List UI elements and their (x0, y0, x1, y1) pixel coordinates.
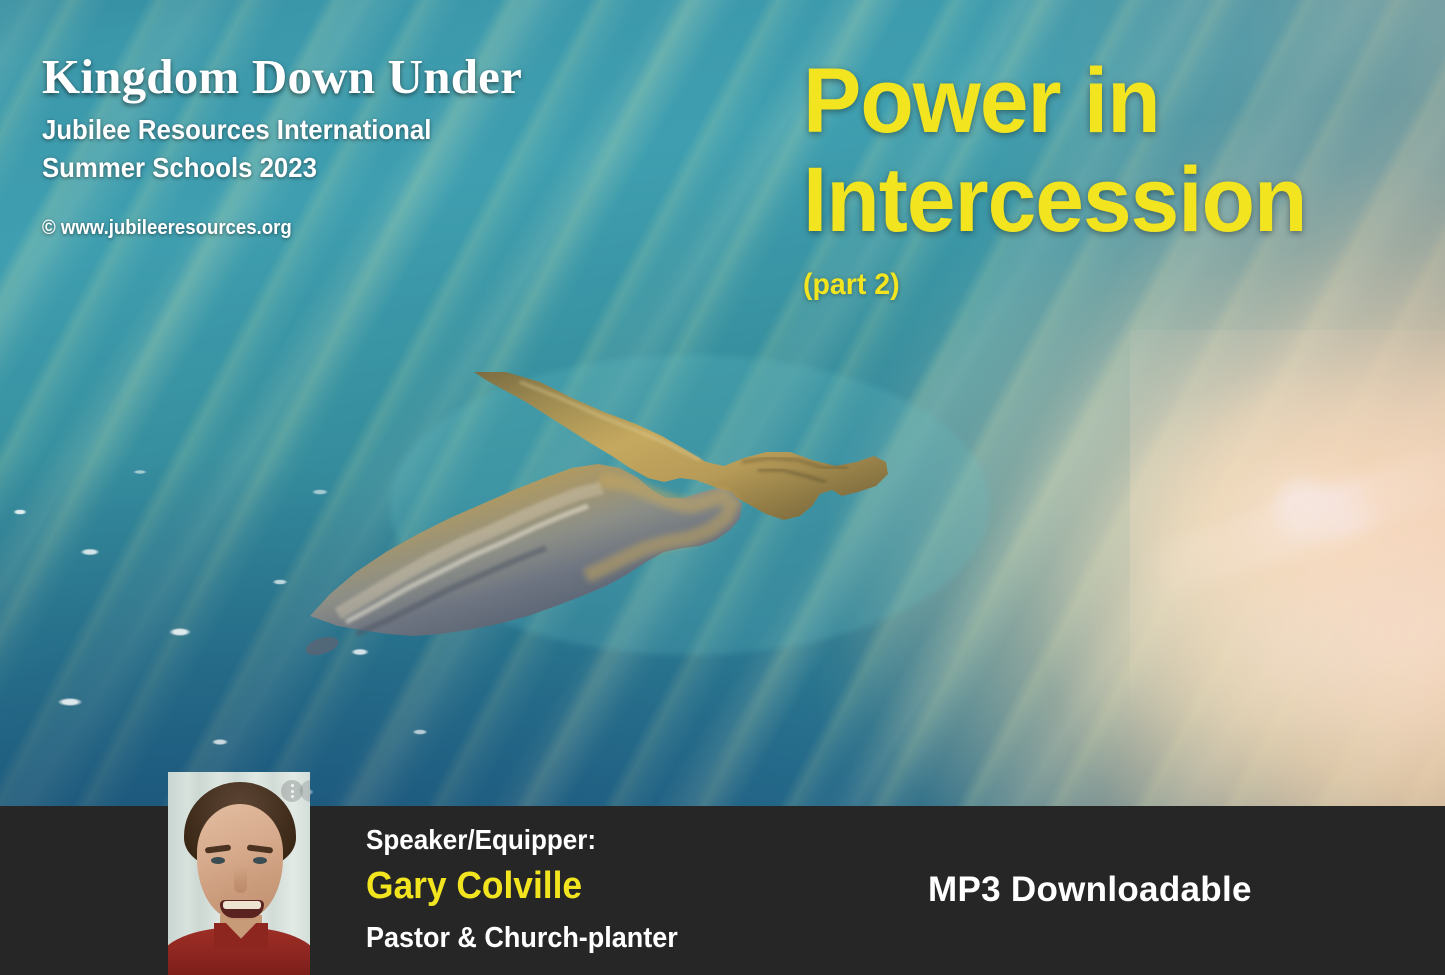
talk-title-block: Power in Intercession (part 2) (803, 52, 1403, 302)
photo-nose (234, 867, 247, 893)
speaker-info-block: Speaker/Equipper: Gary Colville Pastor &… (366, 824, 701, 955)
dot (291, 790, 294, 793)
photo-eye-right (253, 857, 267, 864)
promo-poster: Kingdom Down Under Jubilee Resources Int… (0, 0, 1445, 975)
talk-title-line-2: Intercession (803, 151, 1373, 250)
dot (291, 784, 294, 787)
brand-organisation: Jubilee Resources International (42, 111, 631, 149)
brand-title: Kingdom Down Under (42, 52, 682, 102)
dot (291, 795, 294, 798)
photo-mouth (220, 900, 264, 918)
photo-teeth (223, 901, 261, 909)
brand-block: Kingdom Down Under Jubilee Resources Int… (42, 52, 682, 240)
talk-title-line-1: Power in (803, 52, 1373, 151)
brand-event: Summer Schools 2023 (42, 149, 631, 187)
talk-part-label: (part 2) (803, 268, 1373, 302)
brand-website[interactable]: © www.jubileeresources.org (42, 217, 637, 240)
speaker-photo (168, 772, 310, 975)
speaker-role-label: Speaker/Equipper: (366, 824, 678, 856)
speaker-name: Gary Colville (366, 865, 678, 908)
speaker-description: Pastor & Church-planter (366, 922, 678, 955)
photo-eye-left (211, 857, 225, 864)
media-format-label: MP3 Downloadable (928, 870, 1252, 910)
